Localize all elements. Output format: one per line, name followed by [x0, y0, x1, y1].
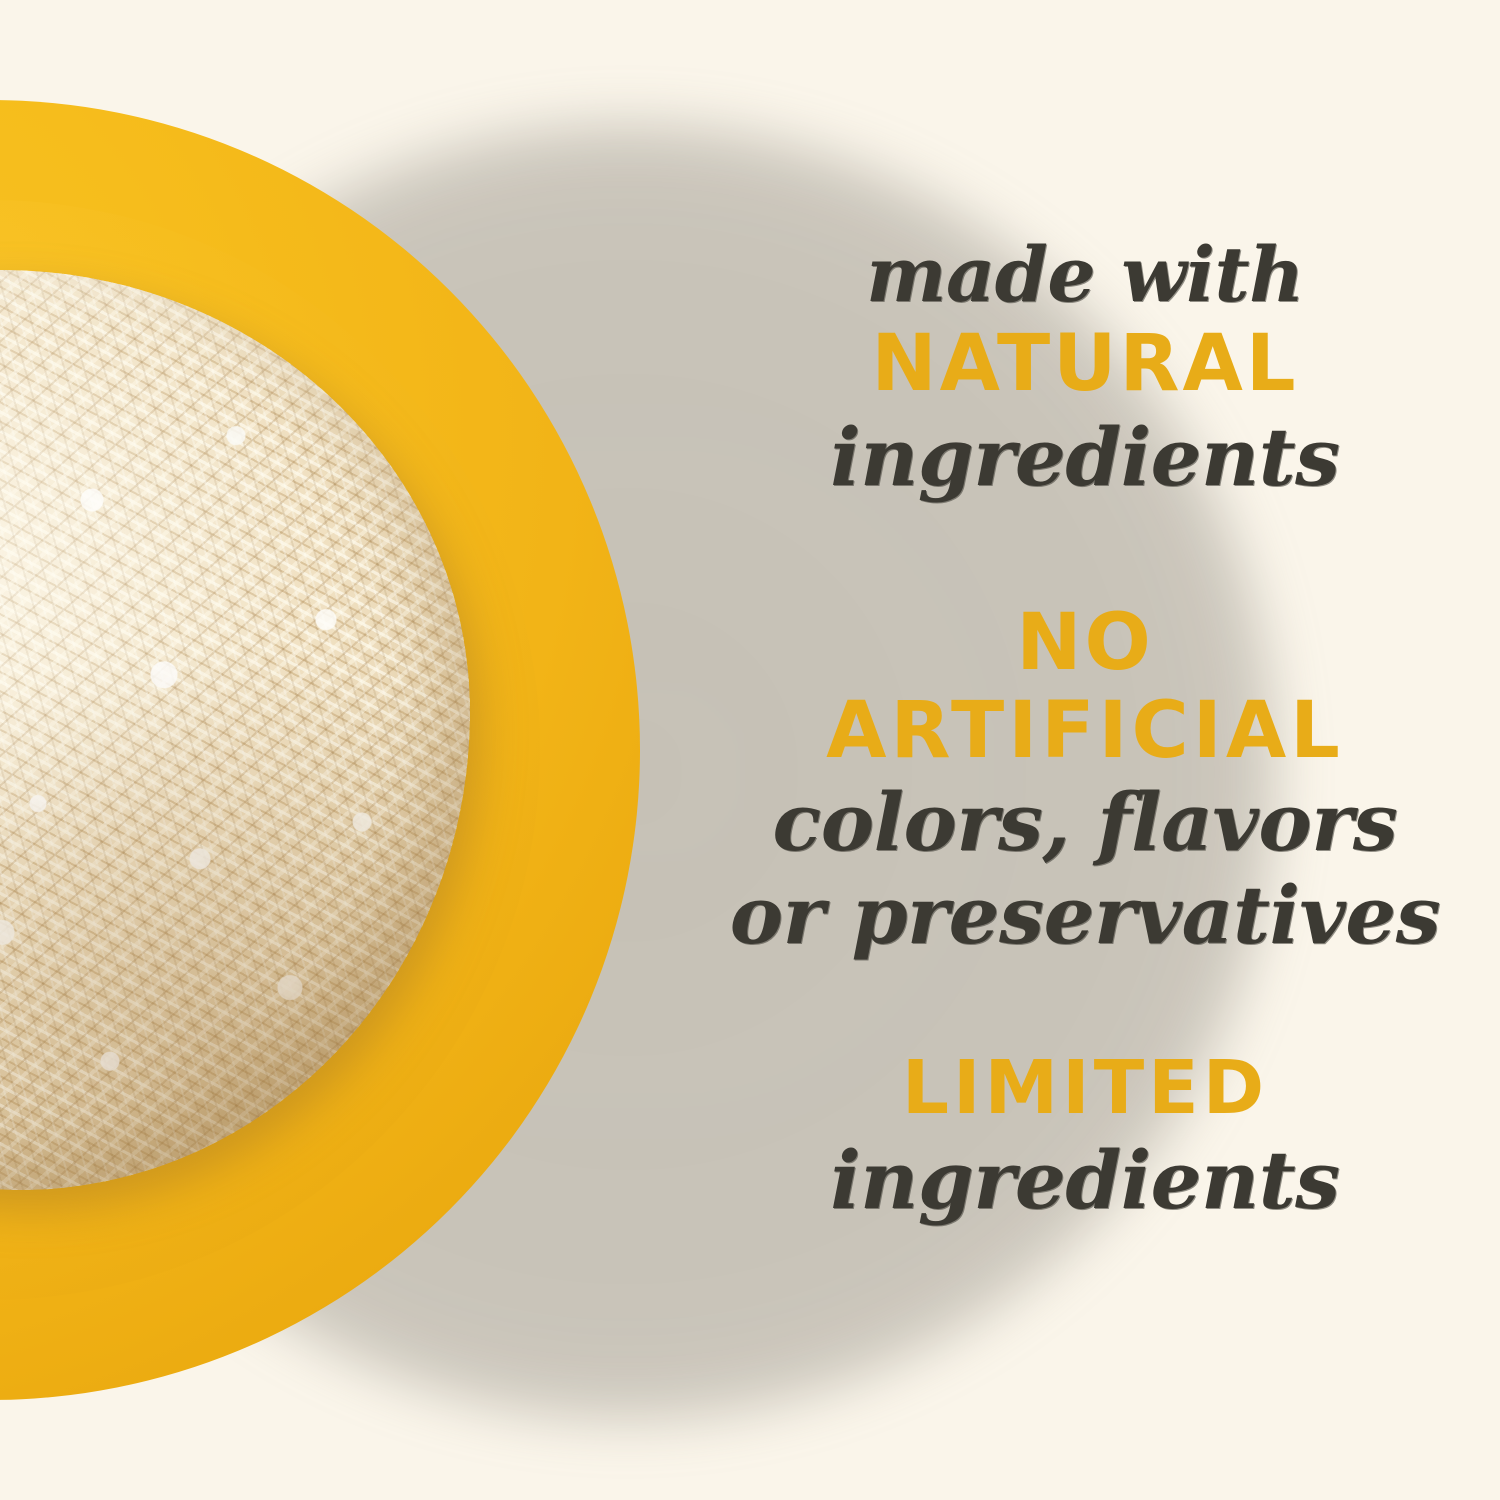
claim-limited-line-2: ingredients [690, 1132, 1480, 1228]
claim-natural-ingredients: made with NATURAL ingredients [690, 232, 1480, 504]
claim-natural-line-3: ingredients [690, 410, 1480, 504]
claim-limited-ingredients: LIMITED ingredients [690, 1044, 1480, 1228]
claim-artificial-keyword-artificial: ARTIFICIAL [690, 686, 1480, 776]
claim-natural-keyword: NATURAL [690, 318, 1480, 410]
claim-artificial-line-3: colors, flavors [690, 776, 1480, 868]
claim-no-artificial: NO ARTIFICIAL colors, flavors or preserv… [690, 600, 1480, 962]
claim-limited-keyword: LIMITED [690, 1044, 1480, 1132]
claim-natural-line-1: made with [690, 232, 1480, 318]
claim-artificial-keyword-no: NO [690, 600, 1480, 686]
claims-panel: made with NATURAL ingredients NO ARTIFIC… [690, 0, 1480, 1500]
product-marketing-image: made with NATURAL ingredients NO ARTIFIC… [0, 0, 1500, 1500]
claim-artificial-line-4: or preservatives [690, 868, 1480, 962]
